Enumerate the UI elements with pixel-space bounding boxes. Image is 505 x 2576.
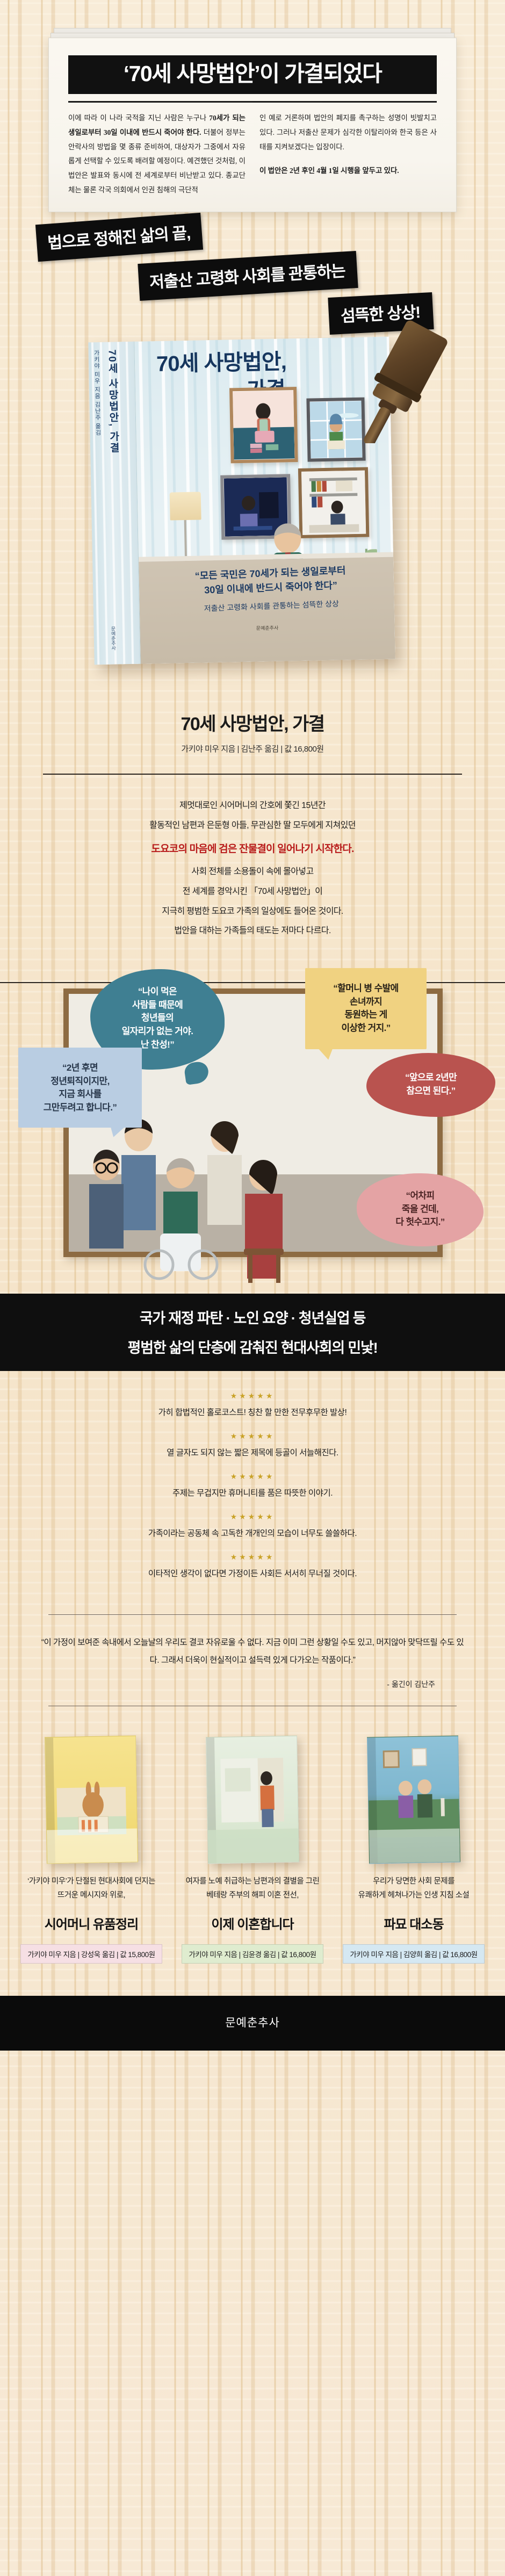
book-cover-section: 70세 사망법안, 가결 가키야 미우 지음 김난주 옮김 문예춘추사 70세 … xyxy=(0,330,505,706)
synopsis-line: 지극히 평범한 도요코 가족의 일상에도 들어온 것이다. xyxy=(21,902,484,922)
page-title: 70세 사망법안, 가결 xyxy=(0,709,505,735)
speech-bubble-daughter: “앞으로 2년만참으면 된다.” xyxy=(366,1053,495,1117)
review-text: 이타적인 생각이 없다면 가정이든 사회든 서서히 무너질 것이다. xyxy=(16,1567,489,1579)
synopsis-highlight: 도요코의 마음에 검은 잔물결이 일어나기 시작한다. xyxy=(21,836,484,862)
review-item: ★★★★★ 주제는 무겁지만 휴머니티를 품은 따뜻한 이야기. xyxy=(16,1472,489,1498)
spine-publisher: 문예춘추사 xyxy=(110,626,117,650)
newspaper-section: ‘70세 사망법안’이 가결되었다 이에 따라 이 나라 국적을 지닌 사람은 … xyxy=(0,0,505,212)
family-member-son xyxy=(121,1119,156,1230)
review-item: ★★★★★ 가히 합법적인 홀로코스트! 칭찬 할 만한 전무후무한 발상! xyxy=(16,1391,489,1418)
related-book-cover[interactable] xyxy=(206,1736,299,1864)
reviews-section: ★★★★★ 가히 합법적인 홀로코스트! 칭찬 할 만한 전무후무한 발상! ★… xyxy=(0,1371,505,1598)
tilted-banner-group: 법으로 정해진 삶의 끝, 저출산 고령화 사회를 관통하는 섬뜩한 상상! xyxy=(0,205,505,342)
speech-bubble-grandmother: “어차피죽을 건데,다 헛수고지.” xyxy=(357,1173,484,1246)
related-book-title: 시어머니 유품정리 xyxy=(16,1914,167,1932)
review-text: 가족이라는 공동체 속 고독한 개개인의 모습이 너무도 쓸쓸하다. xyxy=(16,1527,489,1539)
star-rating-icon: ★★★★★ xyxy=(16,1472,489,1481)
related-book-desc-line2: 뜨거운 메시지와 위로, xyxy=(16,1889,167,1902)
tilt-banner-line3: 섬뜩한 상상! xyxy=(328,292,434,335)
newspaper-paragraph: 인 예로 거론하며 법안의 폐지를 촉구하는 성명이 빗발치고 있다. 그러나 … xyxy=(259,111,437,154)
newspaper-columns: 이에 따라 이 나라 국적을 지닌 사람은 누구나 70세가 되는 생일로부터 … xyxy=(68,111,437,198)
newspaper-stack: ‘70세 사망법안’이 가결되었다 이에 따라 이 나라 국적을 지닌 사람은 … xyxy=(48,38,457,212)
section-divider-thin xyxy=(48,1614,457,1615)
cover-text-band xyxy=(369,1829,460,1864)
related-book-title: 이제 이혼합니다 xyxy=(177,1914,328,1932)
related-book-card[interactable]: ‘가키야 미우’가 단절된 현대사회에 던지는 뜨거운 메시지와 위로, 시어머… xyxy=(16,1736,167,1964)
related-book-meta: 가키야 미우 지음 | 김윤경 옮김 | 값 16,800원 xyxy=(182,1944,323,1964)
translator-quote-section: “이 가정이 보여준 속내에서 오늘날의 우리도 결코 자유로울 수 없다. 지… xyxy=(0,1631,505,1690)
review-text: 열 글자도 되지 않는 짧은 제목에 등골이 서늘해진다. xyxy=(16,1446,489,1458)
speech-bubble-mother: “할머니 병 수발에손녀까지동원하는 게이상한 거지.” xyxy=(305,968,427,1049)
related-book-cover[interactable] xyxy=(45,1736,138,1864)
book-front-cover: 70세 사망법안, 가결 xyxy=(134,337,395,664)
family-member-daughter xyxy=(244,1160,284,1283)
star-rating-icon: ★★★★★ xyxy=(16,1432,489,1441)
framed-picture-traveler xyxy=(306,398,365,462)
family-scene-section: “나이 먹은사람들 때문에청년들의일자리가 없는 거야.난 찬성!” “2년 후… xyxy=(0,955,505,1288)
theme-banner-line2: 평범한 삶의 단층에 감춰진 현대사회의 민낯! xyxy=(5,1336,500,1357)
framed-picture-laundry xyxy=(229,387,298,463)
review-item: ★★★★★ 가족이라는 공동체 속 고독한 개개인의 모습이 너무도 쓸쓸하다. xyxy=(16,1512,489,1539)
newspaper-column-right: 인 예로 거론하며 법안의 폐지를 촉구하는 성명이 빗발치고 있다. 그러나 … xyxy=(259,111,437,198)
star-rating-icon: ★★★★★ xyxy=(16,1553,489,1562)
related-books-section: ‘가키야 미우’가 단절된 현대사회에 던지는 뜨거운 메시지와 위로, 시어머… xyxy=(0,1722,505,1964)
review-text: 가히 합법적인 홀로코스트! 칭찬 할 만한 전무후무한 발상! xyxy=(16,1406,489,1418)
related-book-desc: 우리가 당면한 사회 문제를 유쾌하게 헤쳐나가는 인생 지침 소설 xyxy=(338,1875,489,1903)
newspaper-headline: ‘70세 사망법안’이 가결되었다 xyxy=(68,55,437,94)
translator-quote-text: “이 가정이 보여준 속내에서 오늘날의 우리도 결코 자유로울 수 없다. 지… xyxy=(38,1634,467,1669)
review-text: 주제는 무겁지만 휴머니티를 품은 따뜻한 이야기. xyxy=(16,1487,489,1498)
synopsis-line: 활동적인 남편과 은둔형 아들, 무관심한 딸 모두에게 지쳐있던 xyxy=(21,816,484,836)
related-book-title: 파묘 대소동 xyxy=(338,1914,489,1932)
headline-divider xyxy=(68,101,437,103)
cover-title-line1: 70세 사망법안, xyxy=(156,350,287,376)
related-book-desc-line2: 유쾌하게 헤쳐나가는 인생 지침 소설 xyxy=(338,1889,489,1902)
translator-attribution: - 옮긴이 김난주 xyxy=(38,1679,467,1690)
newspaper-paragraph: 이 법안은 2년 후인 4월 1일 시행을 앞두고 있다. xyxy=(259,164,437,178)
related-book-desc-line1: 여자를 노예 취급하는 남편과의 결별을 그린 xyxy=(177,1875,328,1888)
scene-top-rule xyxy=(0,982,505,983)
related-book-card[interactable]: 우리가 당면한 사회 문제를 유쾌하게 헤쳐나가는 인생 지침 소설 파묘 대소… xyxy=(338,1736,489,1964)
spine-title: 70세 사망법안, 가결 xyxy=(105,349,121,453)
promo-page: ‘70세 사망법안’이 가결되었다 이에 따라 이 나라 국적을 지닌 사람은 … xyxy=(0,0,505,2576)
review-item: ★★★★★ 이타적인 생각이 없다면 가정이든 사회든 서서히 무너질 것이다. xyxy=(16,1553,489,1579)
cover-quote: “모든 국민은 70세가 되는 생일로부터 30일 이내에 반드시 죽어야 한다… xyxy=(155,562,387,616)
related-book-desc-line1: 우리가 당면한 사회 문제를 xyxy=(338,1875,489,1888)
book-cover-3d: 70세 사망법안, 가결 가키야 미우 지음 김난주 옮김 문예춘추사 70세 … xyxy=(88,337,395,665)
synopsis-line: 제멋대로인 시어머니의 간호에 쫓긴 15년간 xyxy=(21,796,484,816)
theme-banner-line1: 국가 재정 파탄 · 노인 요양 · 청년실업 등 xyxy=(5,1307,500,1327)
synopsis-line: 사회 전체를 소용돌이 속에 몰아넣고 xyxy=(21,862,484,882)
family-illustration xyxy=(86,1106,338,1288)
star-rating-icon: ★★★★★ xyxy=(16,1512,489,1521)
star-rating-icon: ★★★★★ xyxy=(16,1391,489,1401)
book-title-block: 70세 사망법안, 가결 가키야 미우 지음 | 김난주 옮김 | 값 16,8… xyxy=(0,709,505,754)
footer-publisher: 문예춘추사 xyxy=(0,2014,505,2030)
cover-text-band xyxy=(208,1829,299,1864)
newspaper-column-left: 이에 따라 이 나라 국적을 지닌 사람은 누구나 70세가 되는 생일로부터 … xyxy=(68,111,246,198)
synopsis-line: 법안을 대하는 가족들의 태도는 저마다 다르다. xyxy=(21,921,484,941)
related-book-desc-line1: ‘가키야 미우’가 단절된 현대사회에 던지는 xyxy=(16,1875,167,1888)
newspaper-page: ‘70세 사망법안’이 가결되었다 이에 따라 이 나라 국적을 지닌 사람은 … xyxy=(48,38,457,212)
related-book-meta: 가키야 미우 지음 | 강성욱 옮김 | 값 15,800원 xyxy=(20,1944,162,1964)
theme-banner: 국가 재정 파탄 · 노인 요양 · 청년실업 등 평범한 삶의 단층에 감춰진… xyxy=(0,1294,505,1371)
newspaper-paragraph: 이에 따라 이 나라 국적을 지닌 사람은 누구나 70세가 되는 생일로부터 … xyxy=(68,111,246,198)
related-book-desc: ‘가키야 미우’가 단절된 현대사회에 던지는 뜨거운 메시지와 위로, xyxy=(16,1875,167,1903)
floor-lamp-shade xyxy=(170,492,201,520)
cover-text-band xyxy=(47,1829,138,1864)
related-book-meta: 가키야 미우 지음 | 김양희 옮김 | 값 16,800원 xyxy=(343,1944,484,1964)
related-book-desc: 여자를 노예 취급하는 남편과의 결별을 그린 베테랑 주부의 해피 이혼 전선… xyxy=(177,1875,328,1903)
book-spine: 70세 사망법안, 가결 가키야 미우 지음 김난주 옮김 문예춘추사 xyxy=(88,342,141,665)
family-member-grandmother xyxy=(145,1158,217,1279)
tilt-banner-line2: 저출산 고령화 사회를 관통하는 xyxy=(138,251,358,301)
book-author-price: 가키야 미우 지음 | 김난주 옮김 | 값 16,800원 xyxy=(0,743,505,754)
synopsis-line: 전 세계를 경악시킨 「70세 사망법안」이 xyxy=(21,882,484,902)
tilt-banner-line1: 법으로 정해진 삶의 끝, xyxy=(35,213,203,262)
speech-bubble-father: “2년 후면정년퇴직이지만,지금 회사를그만두려고 합니다.” xyxy=(18,1048,142,1128)
related-book-cover[interactable] xyxy=(367,1736,460,1864)
family-member-mother xyxy=(207,1121,242,1225)
review-item: ★★★★★ 열 글자도 되지 않는 짧은 제목에 등골이 서늘해진다. xyxy=(16,1432,489,1458)
family-member-father xyxy=(89,1150,124,1249)
section-divider-thin xyxy=(48,1706,457,1706)
page-footer: 문예춘추사 xyxy=(0,1996,505,2051)
related-book-desc-line2: 베테랑 주부의 해피 이혼 전선, xyxy=(177,1889,328,1902)
spine-author: 가키야 미우 지음 김난주 옮김 xyxy=(92,350,103,436)
synopsis-section: 제멋대로인 시어머니의 간호에 쫓긴 15년간 활동적인 남편과 은둔형 아들,… xyxy=(0,775,505,941)
related-book-card[interactable]: 여자를 노예 취급하는 남편과의 결별을 그린 베테랑 주부의 해피 이혼 전선… xyxy=(177,1736,328,1964)
